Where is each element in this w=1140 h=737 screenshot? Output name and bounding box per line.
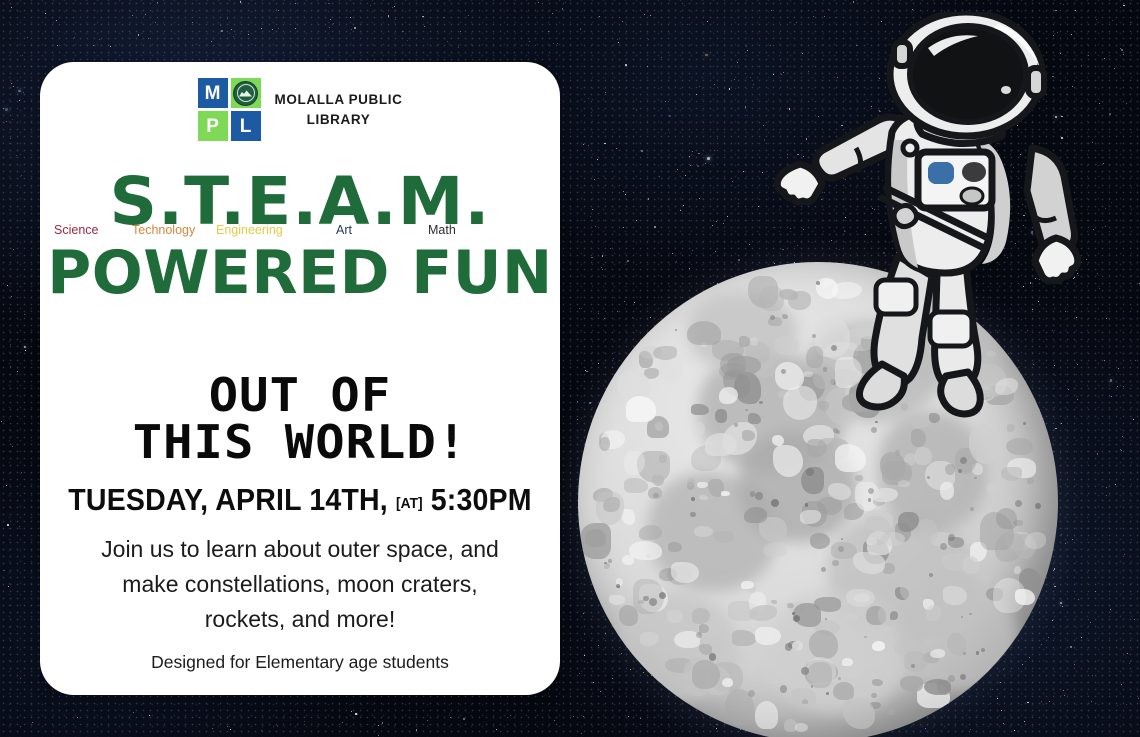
event-at-label: [AT] — [396, 495, 423, 512]
sublabel-technology: Technology — [132, 223, 195, 237]
astronaut-illustration — [770, 12, 1130, 422]
sublabel-math: Math — [428, 223, 456, 237]
sublabel-art: Art — [336, 223, 352, 237]
library-name-line1: MOLALLA PUBLIC — [275, 90, 403, 110]
logo-tile-l: L — [231, 111, 261, 141]
event-title-line1: OUT OF — [40, 372, 560, 419]
library-logo: M P L MOLALLA PUBLIC LIBRARY — [40, 78, 560, 141]
logo-tile-seal — [231, 78, 261, 108]
steam-sublabels: Science Technology Engineering Art Math — [40, 223, 560, 239]
description-line2: make constellations, moon craters, — [80, 567, 520, 602]
city-seal-icon — [233, 81, 258, 106]
logo-tile-m: M — [198, 78, 228, 108]
logo-tile-p: P — [198, 111, 228, 141]
mpl-logo-grid: M P L — [198, 78, 261, 141]
event-description: Join us to learn about outer space, and … — [80, 532, 520, 637]
description-line1: Join us to learn about outer space, and — [80, 532, 520, 567]
sublabel-engineering: Engineering — [216, 223, 283, 237]
description-line3: rockets, and more! — [80, 602, 520, 637]
sublabel-science: Science — [54, 223, 98, 237]
event-day: TUESDAY, — [68, 482, 208, 517]
library-name: MOLALLA PUBLIC LIBRARY — [275, 90, 403, 129]
steam-heading: S.T.E.A.M. Science Technology Engineerin… — [40, 170, 560, 303]
event-title-line2: THIS WORLD! — [40, 419, 560, 466]
target-audience: Designed for Elementary age students — [40, 652, 560, 673]
event-date: APRIL 14TH, — [215, 482, 388, 517]
event-time: 5:30PM — [431, 482, 532, 517]
event-datetime: TUESDAY, APRIL 14TH, [AT] 5:30PM — [61, 482, 539, 518]
poster: M P L MOLALLA PUBLIC LIBRARY S.T.E.A.M. … — [0, 0, 1140, 737]
info-card: M P L MOLALLA PUBLIC LIBRARY S.T.E.A.M. … — [40, 62, 560, 695]
event-title: OUT OF THIS WORLD! — [40, 372, 560, 466]
powered-fun-text: POWERED FUN — [40, 243, 560, 303]
library-name-line2: LIBRARY — [275, 110, 403, 130]
